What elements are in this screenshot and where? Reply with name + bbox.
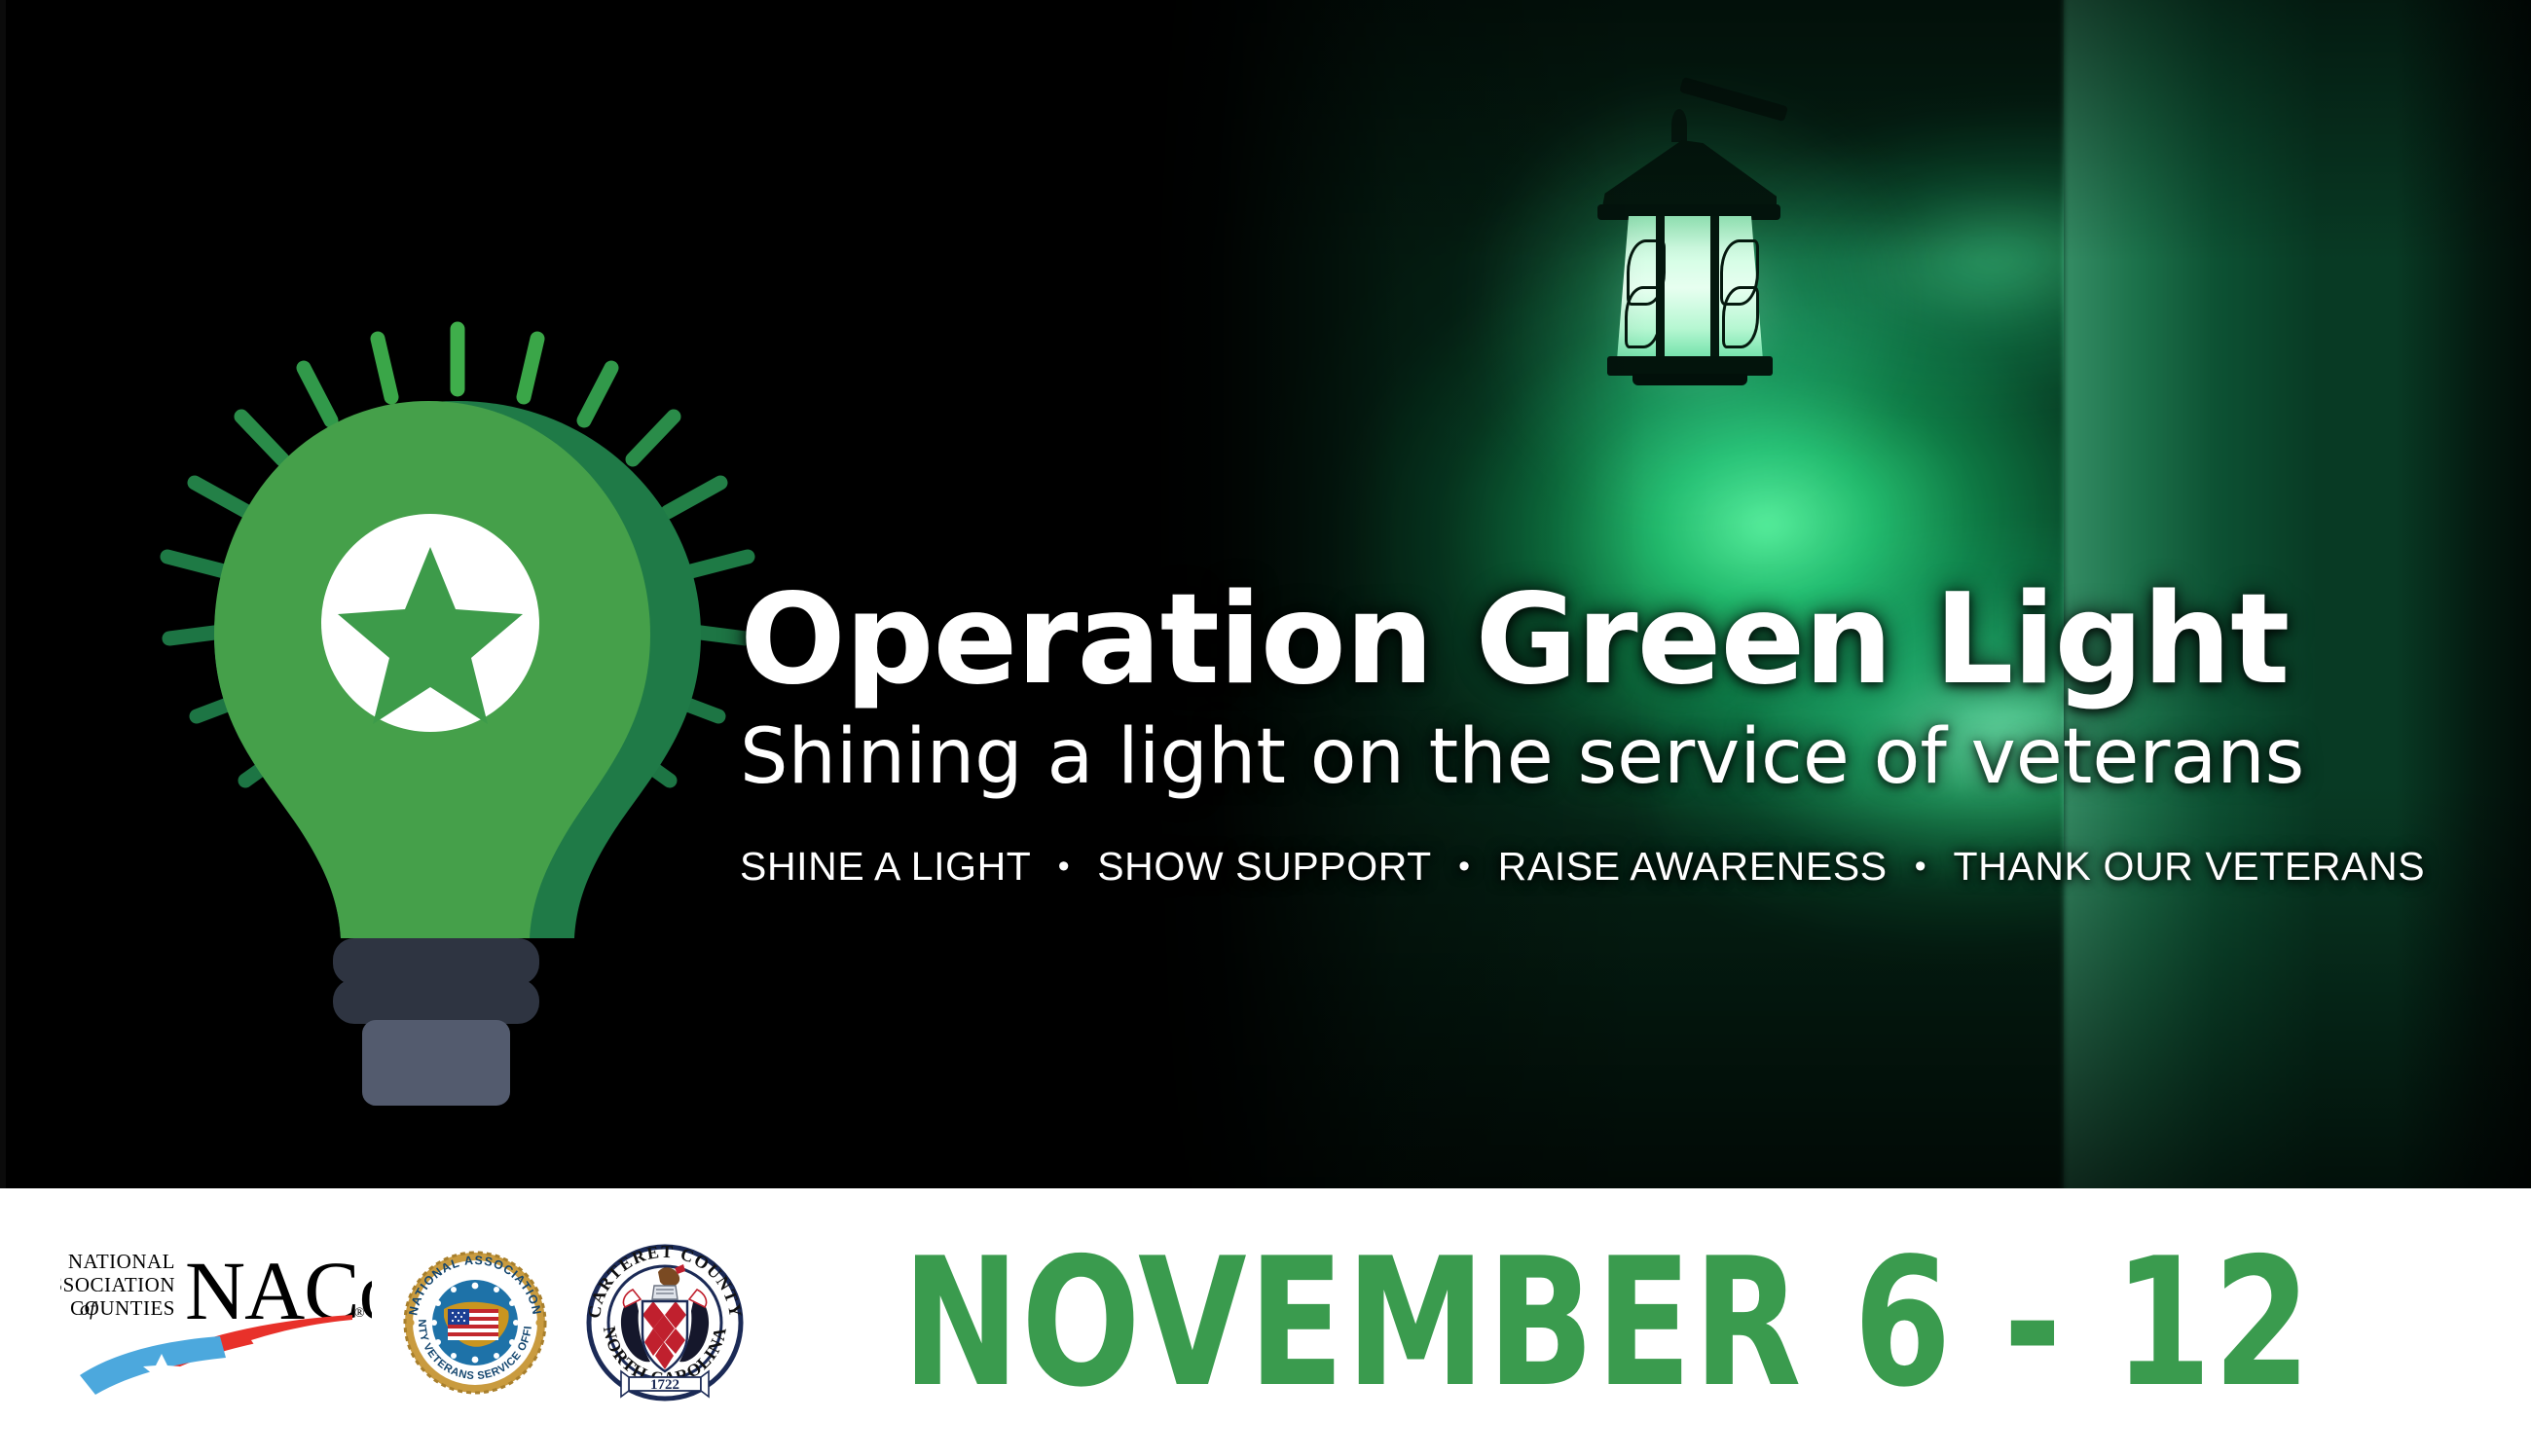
hero-text-block: Operation Green Light Shining a light on… xyxy=(740,574,2395,890)
naco-line-national: NATIONAL xyxy=(68,1250,175,1273)
date-band: NOVEMBER 6 - 12 xyxy=(752,1234,2531,1411)
nacvso-flag xyxy=(448,1309,498,1340)
left-edge-highlight xyxy=(0,0,6,1188)
hero-banner: Operation Green Light Shining a light on… xyxy=(0,0,2531,1188)
light-bulb-logo xyxy=(117,292,798,1129)
footer-bar: NATIONAL ASSOCIATION of COUNTIES NACo ® xyxy=(0,1188,2531,1456)
carteret-founded-year: 1722 xyxy=(650,1377,679,1393)
tagline-strip: SHINE A LIGHT • SHOW SUPPORT • RAISE AWA… xyxy=(740,844,2395,890)
tagline-separator-1: • xyxy=(1043,848,1086,886)
page-subtitle: Shining a light on the service of vetera… xyxy=(740,716,2395,800)
naco-line-association: ASSOCIATION xyxy=(60,1273,175,1296)
tagline-separator-3: • xyxy=(1899,848,1943,886)
bulb-base xyxy=(333,938,539,1106)
naco-registered-mark: ® xyxy=(354,1306,365,1321)
naco-line-counties: COUNTIES xyxy=(70,1296,175,1320)
tagline-item-4: THANK OUR VETERANS xyxy=(1954,844,2426,889)
tagline-item-2: SHOW SUPPORT xyxy=(1097,844,1431,889)
carteret-county-seal: CARTERET COUNTY NORTH CAROLINA xyxy=(578,1225,752,1420)
tagline-item-1: SHINE A LIGHT xyxy=(740,844,1031,889)
naco-logo: NATIONAL ASSOCIATION of COUNTIES NACo ® xyxy=(60,1239,372,1406)
nacvso-seal: NATIONAL ASSOCIATION COUNTY VETERANS SER… xyxy=(393,1225,557,1420)
partner-logos: NATIONAL ASSOCIATION of COUNTIES NACo ® xyxy=(0,1225,752,1420)
tagline-separator-2: • xyxy=(1443,848,1486,886)
event-date: NOVEMBER 6 - 12 xyxy=(902,1234,2313,1411)
operation-green-light-poster: Operation Green Light Shining a light on… xyxy=(0,0,2531,1456)
tagline-item-3: RAISE AWARENESS xyxy=(1498,844,1888,889)
page-title: Operation Green Light xyxy=(740,574,2395,707)
